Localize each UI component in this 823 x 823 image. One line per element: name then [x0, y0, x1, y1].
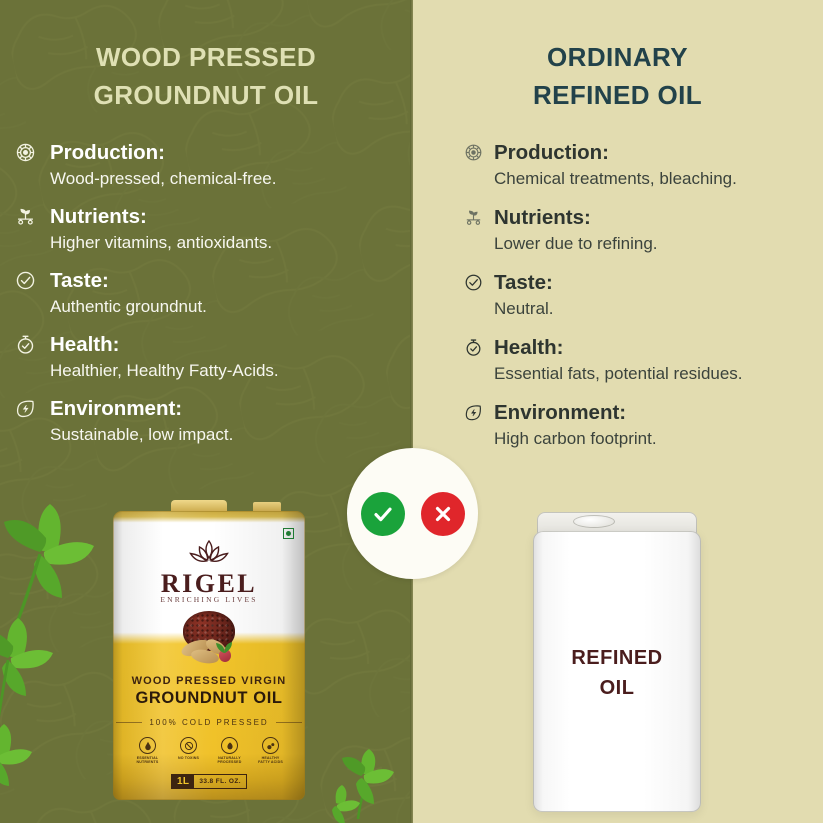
refined-label-line1: REFINED	[533, 643, 701, 673]
feature-item-health: Health: Healthier, Healthy Fatty-Acids.	[14, 332, 410, 383]
gear-icon	[14, 141, 36, 163]
groundnut-artwork	[175, 611, 243, 667]
badge-label: NATURALLY PROCESSED	[215, 756, 245, 765]
feature-title: Nutrients:	[494, 205, 814, 231]
no-toxins-icon	[180, 737, 197, 754]
comparison-infographic: WOOD PRESSED GROUNDNUT OIL ORDINARY REFI…	[0, 0, 823, 823]
feature-desc: Authentic groundnut.	[50, 294, 410, 319]
feature-title: Production:	[494, 140, 814, 166]
left-feature-list: Production: Wood-pressed, chemical-free.…	[14, 140, 410, 460]
feature-desc: Healthier, Healthy Fatty-Acids.	[50, 358, 410, 383]
feature-desc: Lower due to refining.	[494, 231, 814, 256]
feature-item-health: Health: Essential fats, potential residu…	[462, 335, 814, 386]
badge-no-toxins: NO TOXINS	[174, 737, 204, 765]
feature-desc: Sustainable, low impact.	[50, 422, 410, 447]
feature-title: Nutrients:	[50, 204, 410, 230]
lotus-leaf-logo-icon	[113, 538, 305, 573]
wood-pressed-oil-tin: RIGEL ENRICHING LIVES WOOD PRES	[113, 500, 305, 800]
feature-desc: Higher vitamins, antioxidants.	[50, 230, 410, 255]
leaf-sprig-icon	[211, 635, 237, 660]
feature-title: Health:	[494, 335, 814, 361]
refined-tin-label: REFINED OIL	[533, 643, 701, 703]
feature-desc: Wood-pressed, chemical-free.	[50, 166, 410, 191]
cross-mark-icon	[421, 492, 465, 536]
tin-body: RIGEL ENRICHING LIVES WOOD PRES	[113, 511, 305, 800]
volume-strip: 1L 33.8 FL. OZ.	[113, 774, 305, 789]
leaf-bolt-icon	[14, 397, 36, 419]
badge-naturally-processed: NATURALLY PROCESSED	[215, 737, 245, 765]
right-title-line1: ORDINARY	[412, 38, 823, 76]
feature-title: Production:	[50, 140, 410, 166]
feature-title: Environment:	[50, 396, 410, 422]
label-subtitle: WOOD PRESSED VIRGIN	[113, 675, 305, 687]
right-title-line2: REFINED OIL	[412, 76, 823, 114]
feature-item-production: Production: Chemical treatments, bleachi…	[462, 140, 814, 191]
check-mark-icon	[361, 492, 405, 536]
feature-title: Taste:	[494, 270, 814, 296]
right-panel-title: ORDINARY REFINED OIL	[412, 38, 823, 114]
brand-tagline: ENRICHING LIVES	[113, 595, 305, 604]
feature-title: Environment:	[494, 400, 814, 426]
feature-item-production: Production: Wood-pressed, chemical-free.	[14, 140, 410, 191]
check-circle-icon	[462, 271, 484, 293]
groundnut-sprig-decoration	[300, 745, 410, 823]
left-title-line2: GROUNDNUT OIL	[0, 76, 412, 114]
verdict-badge	[347, 448, 478, 579]
right-feature-list: Production: Chemical treatments, bleachi…	[462, 140, 814, 465]
panel-divider	[410, 0, 413, 823]
left-title-line1: WOOD PRESSED	[0, 38, 412, 76]
feature-desc: Neutral.	[494, 296, 814, 321]
gear-icon	[462, 141, 484, 163]
left-panel-title: WOOD PRESSED GROUNDNUT OIL	[0, 38, 412, 114]
refined-tin-body: REFINED OIL	[533, 531, 701, 812]
feature-item-taste: Taste: Neutral.	[462, 270, 814, 321]
stopwatch-icon	[462, 336, 484, 358]
badge-healthy-fatty-acids: HEALTHY FATTY ACIDS	[256, 737, 286, 765]
feature-item-environment: Environment: Sustainable, low impact.	[14, 396, 410, 447]
leaf-bolt-icon	[462, 401, 484, 423]
sprout-icon	[14, 205, 36, 227]
badge-label: NO TOXINS	[174, 756, 204, 760]
feature-title: Health:	[50, 332, 410, 358]
feature-item-nutrients: Nutrients: Higher vitamins, antioxidants…	[14, 204, 410, 255]
check-circle-icon	[14, 269, 36, 291]
refined-tin-cap	[573, 515, 615, 528]
feature-desc: Chemical treatments, bleaching.	[494, 166, 814, 191]
nutrient-drop-icon	[139, 737, 156, 754]
sprout-icon	[462, 206, 484, 228]
feature-item-environment: Environment: High carbon footprint.	[462, 400, 814, 451]
feature-item-taste: Taste: Authentic groundnut.	[14, 268, 410, 319]
certification-badges: ESSENTIAL NUTRIENTS NO TOXINS NATURALLY …	[113, 737, 305, 765]
feature-title: Taste:	[50, 268, 410, 294]
natural-process-icon	[221, 737, 238, 754]
label-cold-pressed: 100% COLD PRESSED	[113, 718, 305, 727]
feature-item-nutrients: Nutrients: Lower due to refining.	[462, 205, 814, 256]
label-title: GROUNDNUT OIL	[113, 689, 305, 708]
groundnut-leaves-decoration	[0, 498, 122, 823]
feature-desc: Essential fats, potential residues.	[494, 361, 814, 386]
badge-essential-nutrients: ESSENTIAL NUTRIENTS	[133, 737, 163, 765]
badge-label: HEALTHY FATTY ACIDS	[256, 756, 286, 765]
tin-label: RIGEL ENRICHING LIVES WOOD PRES	[113, 511, 305, 800]
volume-imperial: 33.8 FL. OZ.	[194, 775, 246, 788]
refined-oil-tin: REFINED OIL	[533, 512, 701, 812]
refined-label-line2: OIL	[533, 673, 701, 703]
badge-label: ESSENTIAL NUTRIENTS	[133, 756, 163, 765]
stopwatch-icon	[14, 333, 36, 355]
fatty-acids-icon	[262, 737, 279, 754]
volume-metric: 1L	[172, 775, 194, 788]
feature-desc: High carbon footprint.	[494, 426, 814, 451]
